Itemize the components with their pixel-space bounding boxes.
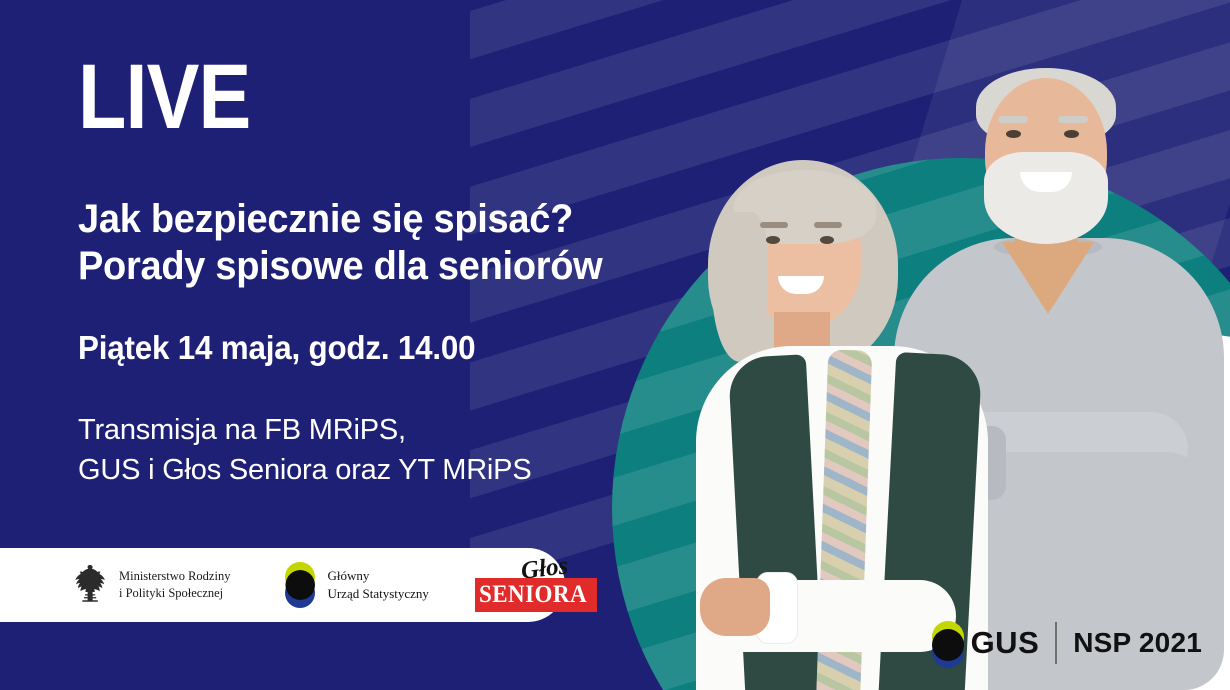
woman-eye-left [766,236,780,244]
broadcast-channels: Transmisja na FB MRiPS, GUS i Głos Senio… [78,410,531,490]
woman-hand [700,578,770,636]
live-label: LIVE [78,52,250,142]
ministry-line-1: Ministerstwo Rodziny [119,569,230,583]
gus-line-1: Główny [327,568,369,583]
partner-logo-bar: Ministerstwo Rodziny i Polityki Społeczn… [0,548,565,622]
gus-logo-block: Główny Urząd Statystyczny [282,562,428,608]
man-eye-left [1006,130,1021,138]
census-label: NSP 2021 [1073,627,1202,659]
event-datetime: Piątek 14 maja, godz. 14.00 [78,328,475,368]
man-eye-right [1064,130,1079,138]
senior-woman-figure [690,160,990,690]
gus-logo-text: Główny Urząd Statystyczny [327,567,428,602]
seniora-word: SENIORA [479,581,587,609]
gus-black-circle-footer [932,629,964,661]
man-eyebrow-left [998,116,1028,123]
woman-hair-side [712,212,768,362]
page-title: Jak bezpiecznie się spisać? Porady spiso… [78,196,602,290]
woman-eyebrow-left [760,222,788,228]
live-announcement-banner: LIVE Jak bezpiecznie się spisać? Porady … [0,0,1230,690]
broadcast-line-2: GUS i Głos Seniora oraz YT MRiPS [78,450,531,490]
ministry-logo-text: Ministerstwo Rodziny i Polityki Społeczn… [119,568,230,603]
broadcast-line-1: Transmisja na FB MRiPS, [78,410,531,450]
ministry-line-2: i Polityki Społecznej [119,586,223,600]
ministry-logo-block: Ministerstwo Rodziny i Polityki Społeczn… [70,563,230,607]
lockup-divider [1055,622,1057,664]
headline-line-1: Jak bezpiecznie się spisać? [78,196,602,243]
gus-wordmark: GUS [971,625,1040,661]
man-eyebrow-right [1058,116,1088,123]
headline-line-2: Porady spisowe dla seniorów [78,243,602,290]
glos-seniora-logo-block: Głos SENIORA [475,556,597,614]
woman-eye-right [820,236,834,244]
polish-eagle-icon [70,563,110,607]
gus-circles-icon-footer [929,620,967,666]
gus-circles-icon [282,562,318,608]
woman-eyebrow-right [814,222,842,228]
gus-nsp-lockup: GUS NSP 2021 [929,620,1202,666]
glos-seniora-icon: Głos SENIORA [475,556,597,614]
seniors-photo [690,60,1230,690]
gus-line-2: Urząd Statystyczny [327,586,428,601]
seniora-red-box: SENIORA [475,578,597,612]
man-beard [984,152,1108,244]
